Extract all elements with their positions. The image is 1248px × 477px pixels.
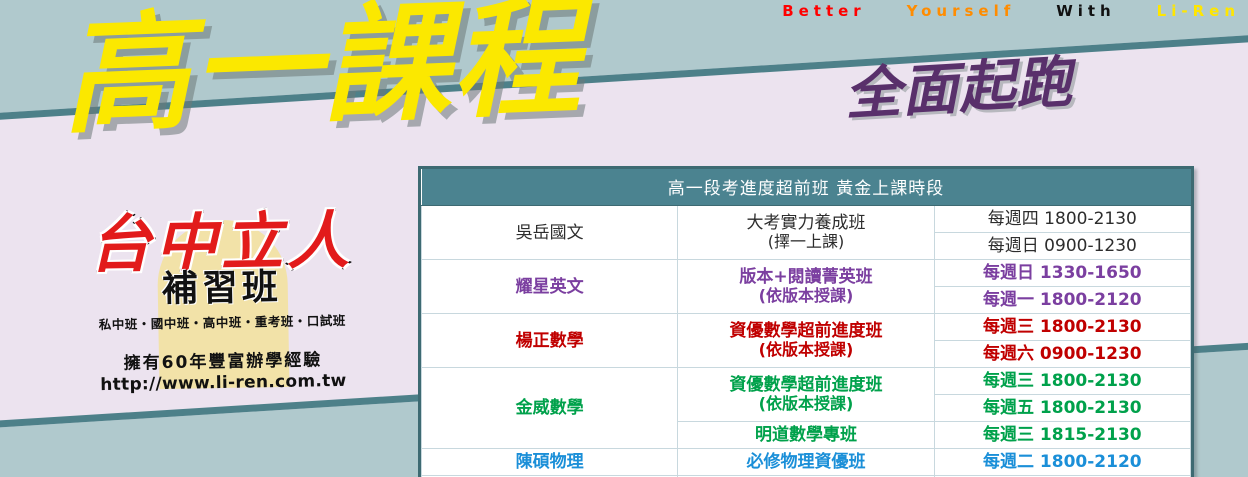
cell-time: 每週四 1800-2130 [934,206,1190,233]
course-line-1: 資優數學超前進度班 [680,375,931,395]
cell-teacher: 陳碩物理 [422,449,678,476]
schedule-table-container: 高一段考進度超前班 黃金上課時段 吳岳國文大考實力養成班(擇一上課)每週四 18… [418,166,1194,477]
cell-time: 每週日 1330-1650 [934,260,1190,287]
tagline-word-yourself: Yourself [907,2,1016,20]
schedule-header-title: 高一段考進度超前班 黃金上課時段 [422,169,1191,206]
cell-course: 明道數學專班 [678,422,934,449]
cell-time: 每週三 1800-2130 [934,368,1190,395]
cell-course: 大考實力養成班(擇一上課) [678,206,934,260]
cell-time: 每週三 1800-2130 [934,314,1190,341]
tagline-word-with: With [1056,2,1116,20]
cell-time: 每週三 1815-2130 [934,422,1190,449]
cell-teacher: 吳岳國文 [422,206,678,260]
cell-time: 每週五 1800-2130 [934,395,1190,422]
table-row: 耀星英文版本+閱讀菁英班(依版本授課)每週日 1330-1650 [422,260,1191,287]
cell-course: 必修物理資優班 [678,449,934,476]
schedule-table: 高一段考進度超前班 黃金上課時段 吳岳國文大考實力養成班(擇一上課)每週四 18… [421,169,1191,477]
course-line-1: 必修物理資優班 [680,452,931,472]
schedule-table-head: 高一段考進度超前班 黃金上課時段 [422,169,1191,206]
cell-course: 資優數學超前進度班(依版本授課) [678,314,934,368]
cell-course: 版本+閱讀菁英班(依版本授課) [678,260,934,314]
school-logo: 台中立人 補習班 私中班・國中班・高中班・重考班・口試班 擁有60年豐富辦學經驗… [60,209,383,395]
logo-class-list: 私中班・國中班・高中班・重考班・口試班 [62,309,382,334]
table-row: 楊正數學資優數學超前進度班(依版本授課)每週三 1800-2130 [422,314,1191,341]
cell-time: 每週六 0900-1230 [934,341,1190,368]
poster-subheadline: 全面起跑 [843,55,1074,124]
schedule-header-row: 高一段考進度超前班 黃金上課時段 [422,169,1191,206]
table-row: 吳岳國文大考實力養成班(擇一上課)每週四 1800-2130 [422,206,1191,233]
course-line-2: (依版本授課) [680,395,931,414]
table-row: 陳碩物理必修物理資優班每週二 1800-2120 [422,449,1191,476]
cell-time: 每週日 0900-1230 [934,233,1190,260]
cell-teacher: 耀星英文 [422,260,678,314]
course-line-2: (依版本授課) [680,287,931,306]
course-line-1: 資優數學超前進度班 [680,321,931,341]
cell-time: 每週一 1800-2120 [934,287,1190,314]
poster-canvas: Better Yourself With Li-Ren 高一課程 全面起跑 台中… [0,0,1248,477]
poster-headline: 高一課程 [60,0,585,142]
tagline-word-liren: Li-Ren [1157,2,1240,20]
cell-course: 資優數學超前進度班(依版本授課) [678,368,934,422]
logo-school-name: 台中立人 [60,209,381,277]
course-line-1: 明道數學專班 [680,425,931,445]
course-line-1: 版本+閱讀菁英班 [680,267,931,287]
course-line-1: 大考實力養成班 [680,213,931,233]
cell-teacher: 楊正數學 [422,314,678,368]
course-line-2: (擇一上課) [680,233,931,252]
schedule-table-body: 吳岳國文大考實力養成班(擇一上課)每週四 1800-2130每週日 0900-1… [422,206,1191,477]
cell-teacher: 金威數學 [422,368,678,449]
tagline-word-better: Better [782,2,866,20]
course-line-2: (依版本授課) [680,341,931,360]
cell-time: 每週二 1800-2120 [934,449,1190,476]
english-tagline: Better Yourself With Li-Ren [0,2,1240,20]
table-row: 金威數學資優數學超前進度班(依版本授課)每週三 1800-2130 [422,368,1191,395]
